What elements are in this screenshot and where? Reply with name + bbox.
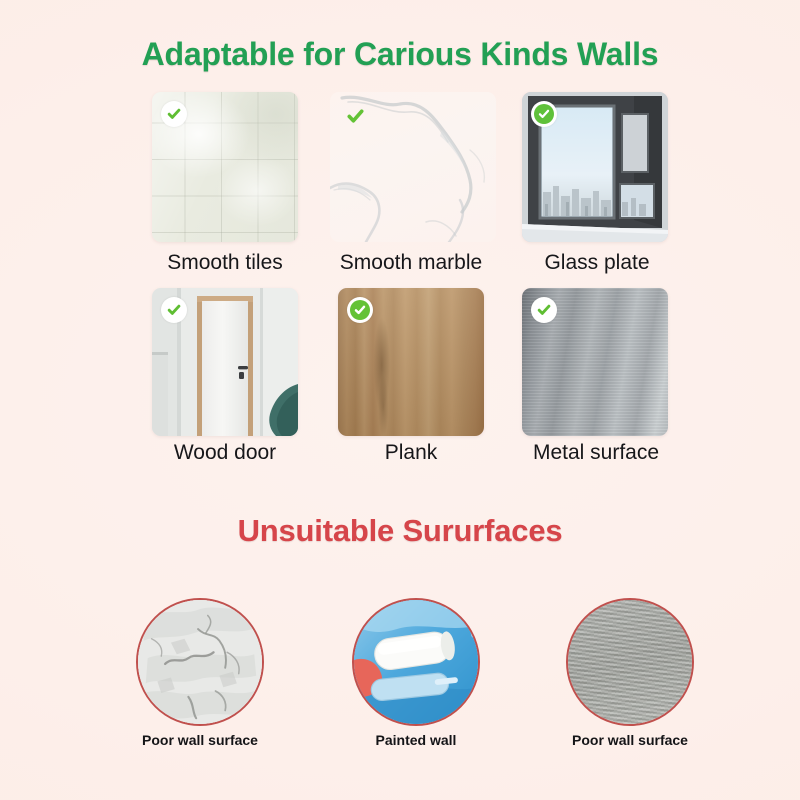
unsuitable-item-poor-wall-1[interactable]: Poor wall surface bbox=[136, 598, 264, 726]
green-check-icon bbox=[531, 297, 557, 323]
unsuitable-item-poor-wall-2[interactable]: Poor wall surface bbox=[566, 598, 694, 726]
cracked-peeling-wall bbox=[138, 600, 262, 724]
poor-wall-surface-image-2 bbox=[566, 598, 694, 726]
unsuitable-label-poor-wall-1: Poor wall surface bbox=[142, 732, 258, 748]
green-check-icon bbox=[161, 101, 187, 127]
unsuitable-item-painted-wall[interactable]: Painted wall bbox=[352, 598, 480, 726]
product-infographic: Adaptable for Carious Kinds Walls Smooth… bbox=[0, 0, 800, 800]
unsuitable-label-poor-wall-2: Poor wall surface bbox=[572, 732, 688, 748]
unsuitable-surface-grid: Poor wall surface bbox=[0, 0, 800, 800]
green-check-icon bbox=[161, 297, 187, 323]
green-check-icon bbox=[347, 297, 373, 323]
green-check-icon bbox=[531, 101, 557, 127]
unsuitable-label-painted-wall: Painted wall bbox=[376, 732, 457, 748]
green-check-icon bbox=[342, 103, 368, 129]
rough-concrete bbox=[568, 600, 692, 724]
paint-roller-blue bbox=[354, 600, 478, 724]
poor-wall-surface-image-1 bbox=[136, 598, 264, 726]
painted-wall-image bbox=[352, 598, 480, 726]
